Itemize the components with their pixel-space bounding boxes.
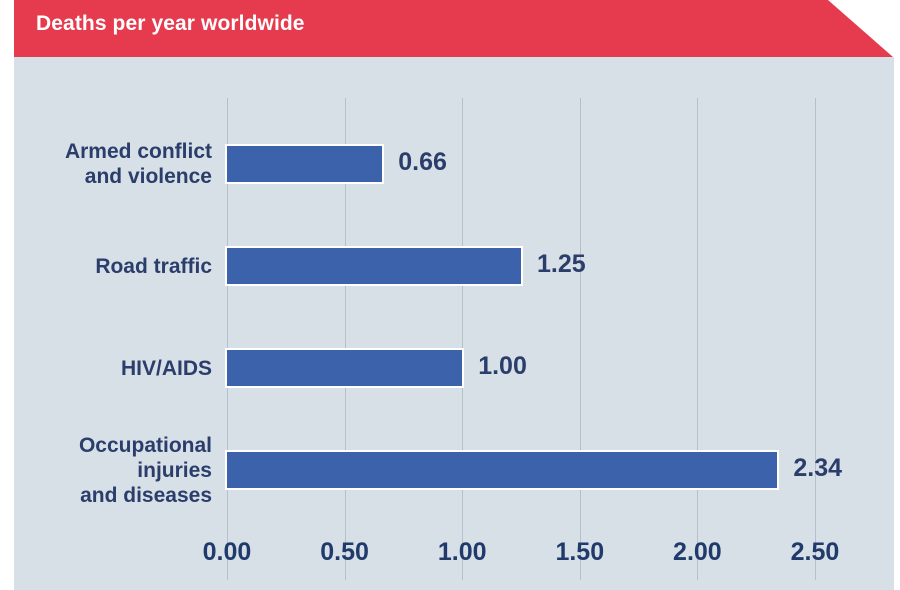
category-label: HIV/AIDS — [121, 356, 212, 381]
gridline — [815, 98, 816, 580]
x-tick-label: 2.50 — [775, 538, 855, 567]
bar-value-label: 1.00 — [478, 352, 527, 381]
plot-area — [14, 57, 894, 590]
x-tick-label: 0.00 — [187, 538, 267, 567]
bar-value-label: 2.34 — [793, 454, 842, 483]
x-tick-label: 0.50 — [305, 538, 385, 567]
category-label: Armed conflict and violence — [65, 139, 212, 189]
bar — [225, 348, 464, 388]
x-tick-label: 1.00 — [422, 538, 502, 567]
chart-panel — [14, 57, 894, 590]
category-label: Road traffic — [95, 254, 212, 279]
bar — [225, 246, 523, 286]
chart-figure: Deaths per year worldwide Armed conflict… — [0, 0, 900, 590]
x-tick-label: 1.50 — [540, 538, 620, 567]
gridline — [462, 98, 463, 580]
bar — [225, 450, 779, 490]
bar — [225, 144, 384, 184]
bar-value-label: 0.66 — [398, 148, 447, 177]
x-tick-label: 2.00 — [657, 538, 737, 567]
gridline — [580, 98, 581, 580]
bar-value-label: 1.25 — [537, 250, 586, 279]
category-label: Occupational injuries and diseases — [79, 433, 212, 508]
gridline — [697, 98, 698, 580]
chart-title: Deaths per year worldwide — [36, 12, 305, 36]
